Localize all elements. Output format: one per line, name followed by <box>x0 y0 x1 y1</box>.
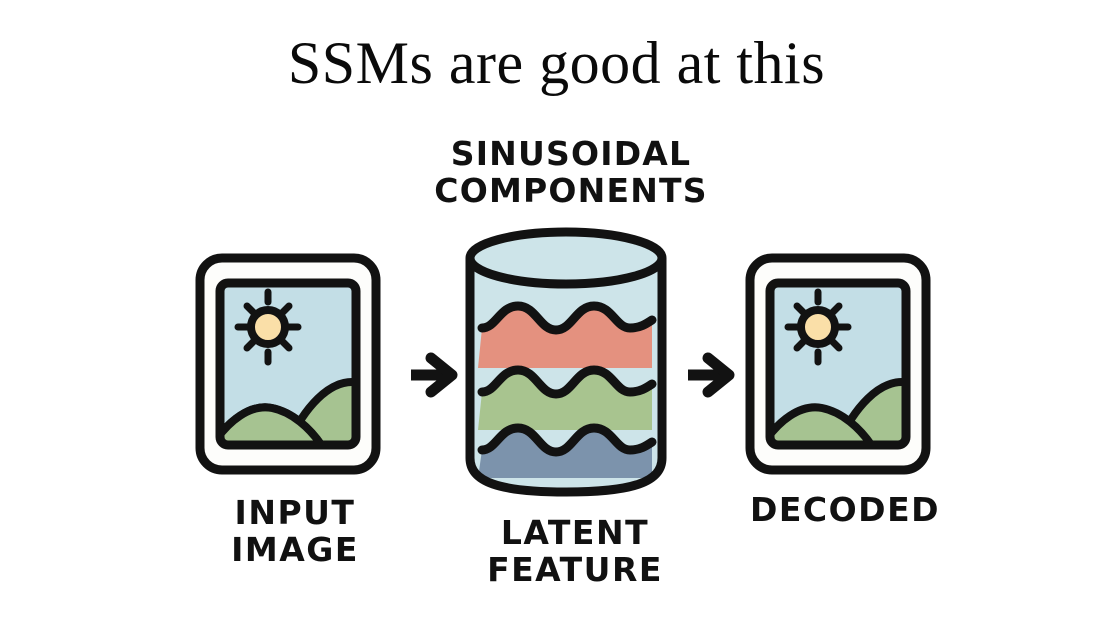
decoded-label: DECODED <box>735 492 955 529</box>
sun-icon <box>251 310 285 344</box>
sun-icon-decoded <box>801 310 835 344</box>
sinusoidal-components-label: SINUSOIDAL COMPONENTS <box>406 136 736 210</box>
latent-feature-label: LATENT FEATURE <box>460 515 690 589</box>
decoded-image-icon[interactable] <box>750 258 950 470</box>
input-image-icon[interactable] <box>200 258 400 470</box>
arrow-latent-to-decoded-icon <box>688 358 729 392</box>
latent-cylinder-icon[interactable] <box>470 232 662 492</box>
arrow-input-to-latent-icon <box>411 358 452 392</box>
input-image-label: INPUT IMAGE <box>185 495 405 569</box>
cylinder-top <box>470 232 662 284</box>
